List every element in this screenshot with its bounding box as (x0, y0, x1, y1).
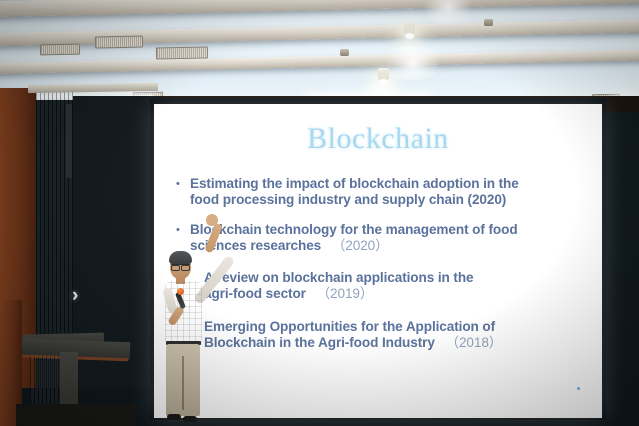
sprinkler-head-icon (484, 19, 493, 26)
bullet-text: A review on blockchain applications in t… (204, 270, 474, 302)
list-item: • Estimating the impact of blockchain ad… (176, 176, 592, 208)
bullet-line: A review on blockchain applications in t… (204, 270, 474, 285)
bullet-line: food processing industry and supply chai… (190, 192, 506, 207)
leg-separation (182, 356, 184, 410)
slide-title: Blockchain (154, 122, 602, 156)
slide-corner-dot (577, 387, 580, 390)
bullet-line: Emerging Opportunities for the Applicati… (204, 319, 495, 334)
bullet-text: Estimating the impact of blockchain adop… (190, 176, 519, 208)
air-vent-icon (95, 35, 143, 48)
light-glare (378, 46, 448, 80)
door-edge-highlight (66, 104, 72, 178)
air-vent-icon (40, 44, 80, 56)
hair (169, 251, 192, 264)
bullet-marker: • (176, 222, 190, 238)
bullet-year: （2020） (332, 238, 389, 253)
bullet-year: （2019） (317, 286, 374, 301)
bullet-year: （2018） (445, 335, 502, 350)
bullet-line: Blockchain technology for the management… (190, 222, 518, 237)
presenter (152, 248, 242, 426)
shoe (183, 416, 197, 422)
bullet-marker: • (176, 176, 190, 192)
ceiling-spotlight-icon (404, 22, 415, 35)
floor-shadow (16, 404, 136, 426)
sprinkler-head-icon (340, 49, 349, 56)
pointing-hand (206, 214, 218, 226)
glasses-icon (171, 264, 190, 270)
presentation-photo: › Blockchain • Estimating the impact of … (0, 0, 639, 426)
bullet-line: Estimating the impact of blockchain adop… (190, 176, 519, 191)
wayfinding-arrow-icon: › (72, 286, 78, 305)
air-vent-icon (156, 46, 208, 59)
shoe (167, 414, 181, 420)
microphone-head-icon (177, 288, 184, 295)
bullet-text: Emerging Opportunities for the Applicati… (204, 319, 502, 351)
